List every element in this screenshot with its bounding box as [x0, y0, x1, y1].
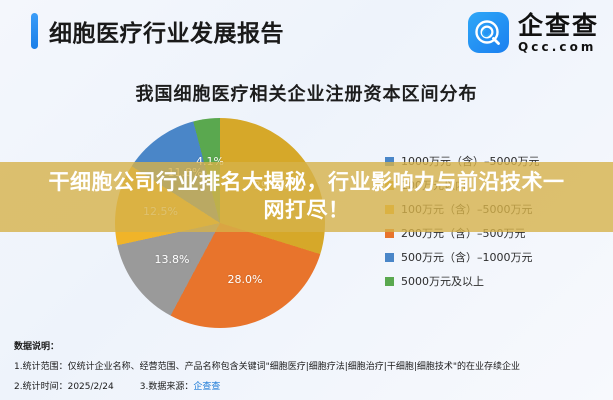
brand-logo[interactable]: 企查查 Qcc.com	[468, 12, 599, 53]
pie-slice-label: 13.8%	[155, 253, 190, 266]
accent-bar-icon	[31, 13, 38, 49]
promo-overlay-banner: 干细胞公司行业排名大揭秘，行业影响力与前沿技术一网打尽！	[0, 162, 613, 232]
footer-heading: 数据说明：	[14, 339, 606, 352]
page-title: 细胞医疗行业发展报告	[49, 14, 284, 48]
footer-source-line: 3.数据来源：企查查	[140, 379, 221, 392]
legend-item[interactable]: 5000万元及以上	[385, 273, 540, 289]
legend-label: 500万元（含）–1000万元	[401, 249, 533, 265]
legend-label: 5000万元及以上	[401, 273, 484, 289]
brand-name-cn: 企查查	[518, 13, 599, 38]
footer-date-line: 2.统计时间：2025/2/24	[14, 379, 114, 392]
qcc-logo-icon	[468, 12, 509, 53]
title-group: 细胞医疗行业发展报告	[31, 13, 284, 49]
legend-swatch-icon	[385, 253, 394, 262]
brand-text: 企查查 Qcc.com	[518, 13, 599, 53]
brand-name-en: Qcc.com	[518, 41, 599, 53]
pie-slice-label: 28.0%	[228, 273, 263, 286]
footer-source-label: 3.数据来源：	[140, 382, 194, 392]
footer-meta-row: 2.统计时间：2025/2/24 3.数据来源：企查查	[14, 379, 606, 399]
legend-item[interactable]: 500万元（含）–1000万元	[385, 249, 540, 265]
footer-scope-line: 1.统计范围：仅统计企业名称、经营范围、产品名称包含关键词"细胞医疗|细胞疗法|…	[14, 359, 606, 372]
report-page: 细胞医疗行业发展报告 企查查 Qcc.com 我国细胞医疗相关企业注册资本区间分…	[0, 0, 613, 400]
chart-title: 我国细胞医疗相关企业注册资本区间分布	[0, 80, 613, 106]
footer-notes: 数据说明： 1.统计范围：仅统计企业名称、经营范围、产品名称包含关键词"细胞医疗…	[14, 339, 606, 399]
promo-overlay-text: 干细胞公司行业排名大揭秘，行业影响力与前沿技术一网打尽！	[38, 169, 575, 224]
footer-source-link[interactable]: 企查查	[193, 382, 220, 392]
legend-swatch-icon	[385, 277, 394, 286]
